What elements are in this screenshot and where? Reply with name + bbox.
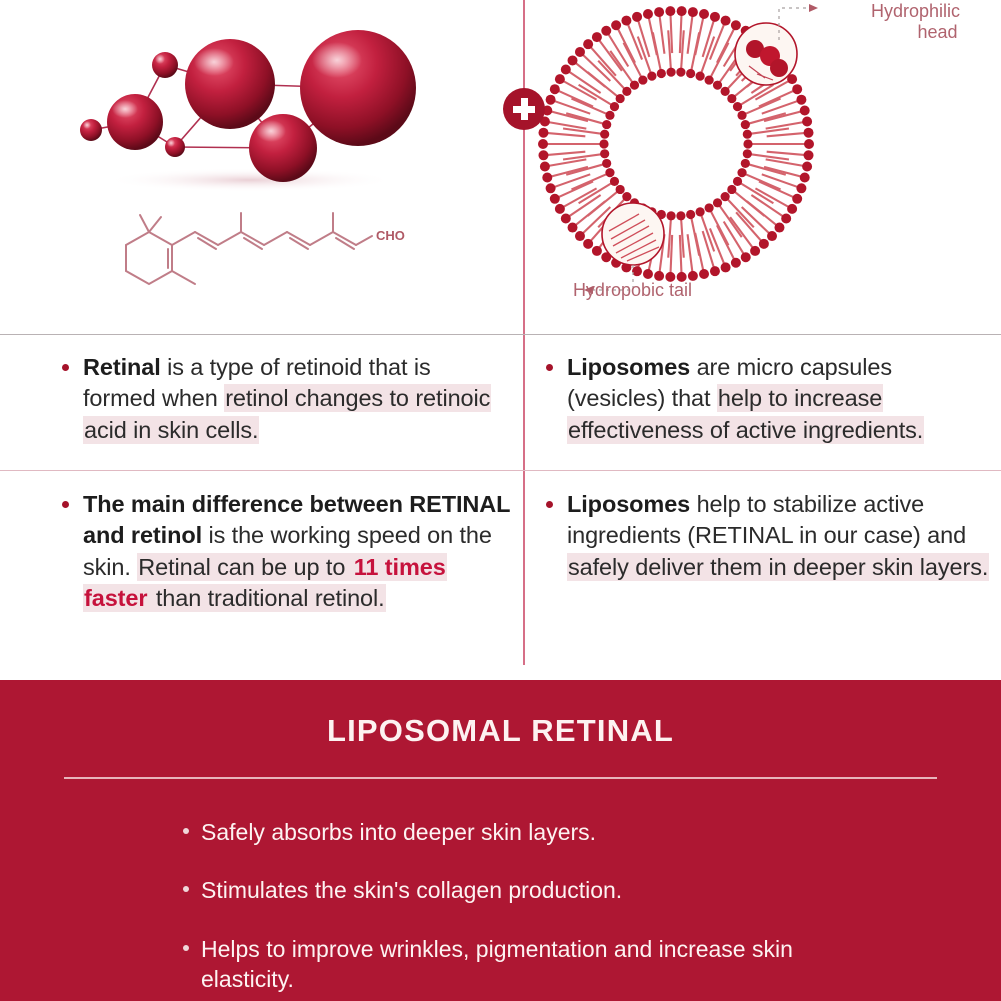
fact-segment: Liposomes [567,491,690,517]
bullet-dot-icon [62,501,69,508]
hydrophobic-tail-label: Hydropobic tail [492,280,692,301]
retinal-illustration-cell: CHO [0,0,500,330]
fact-segment: Liposomes [567,354,690,380]
hydrophilic-head-label: Hydrophilic head [871,1,996,43]
horizontal-divider-top [0,334,1001,335]
fact-text: The main difference between RETINAL and … [83,489,512,614]
liposome-bilayer-icon [521,0,921,324]
liposome-illustration-cell: Hydrophilic head Hydropobic tail [501,0,1001,330]
fact-text: Liposomes are micro capsules (vesicles) … [567,352,991,446]
fact-segment: safely deliver them in deeper skin layer… [567,553,989,581]
fact-segment: Retinal can be up to [137,553,352,581]
plus-badge [503,88,545,130]
hydrophilic-head-label-line1: Hydrophilic [871,1,996,22]
hydrophilic-head-label-line2: head [871,22,996,43]
bullet-dot-icon [183,886,189,892]
bullet-dot-icon [546,501,553,508]
list-item: Safely absorbs into deeper skin layers. [183,817,1001,847]
benefit-text: Helps to improve wrinkles, pigmentation … [201,934,881,995]
infographic-page: CHO [0,0,1001,1001]
horizontal-divider-middle [0,470,1001,471]
fact-text: Retinal is a type of retinoid that is fo… [83,352,492,446]
benefits-list: Safely absorbs into deeper skin layers.S… [183,817,1001,994]
fact-cell-liposomes-definition: Liposomes are micro capsules (vesicles) … [546,352,991,446]
fact-cell-retinal-speed: The main difference between RETINAL and … [62,489,512,614]
list-item: Stimulates the skin's collagen productio… [183,875,1001,905]
chem-label-cho: CHO [376,228,405,243]
benefit-text: Safely absorbs into deeper skin layers. [201,817,596,847]
retinal-chemical-structure-icon: CHO [108,205,408,300]
banner-rule [64,777,937,779]
tail-callout-circle [602,203,664,265]
retinal-molecule-icon [55,8,445,208]
fact-cell-retinal-definition: Retinal is a type of retinoid that is fo… [62,352,492,446]
liposomal-retinal-banner: LIPOSOMAL RETINAL Safely absorbs into de… [0,680,1001,1001]
bullet-dot-icon [546,364,553,371]
bullet-dot-icon [62,364,69,371]
fact-text: Liposomes help to stabilize active ingre… [567,489,996,583]
plus-icon-vertical [521,98,528,120]
bullet-dot-icon [183,945,189,951]
list-item: Helps to improve wrinkles, pigmentation … [183,934,1001,995]
banner-title: LIPOSOMAL RETINAL [0,713,1001,749]
fact-cell-liposomes-delivery: Liposomes help to stabilize active ingre… [546,489,996,583]
bullet-dot-icon [183,828,189,834]
benefit-text: Stimulates the skin's collagen productio… [201,875,622,905]
illustration-band: CHO [0,0,1001,330]
fact-segment: than traditional retinol. [148,584,385,612]
fact-segment: Retinal [83,354,161,380]
